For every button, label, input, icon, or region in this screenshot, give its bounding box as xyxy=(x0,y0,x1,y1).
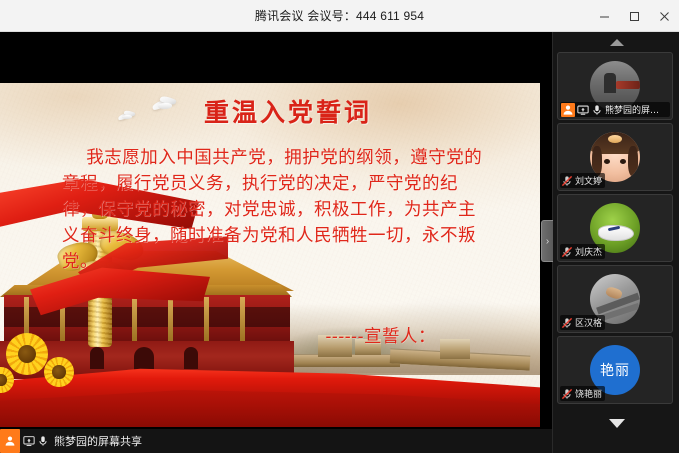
screen-share-icon xyxy=(23,435,35,447)
participant-name: 区汉格 xyxy=(575,316,602,329)
window-controls xyxy=(589,0,679,32)
participant-label: 刘庆杰 xyxy=(560,244,605,259)
chevron-right-icon: › xyxy=(546,236,549,247)
shared-screen-stage[interactable]: 重温入党誓词 我志愿加入中国共产党，拥护党的纲领，遵守党的章程，履行党员义务，执… xyxy=(0,32,552,453)
close-button[interactable] xyxy=(649,0,679,32)
slide-title: 重温入党誓词 xyxy=(0,93,540,129)
presentation-slide: 重温入党誓词 我志愿加入中国共产党，拥护党的纲领，遵守党的章程，履行党员义务，执… xyxy=(0,83,540,427)
screen-share-status-bar: 熊梦园的屏幕共享 xyxy=(0,429,552,453)
participant-sidebar: 熊梦园的屏幕... 刘文婷 xyxy=(552,32,679,453)
slide-body-text: 我志愿加入中国共产党，拥护党的纲领，遵守党的章程，履行党员义务，执行党的决定，严… xyxy=(24,145,490,275)
chevron-down-icon xyxy=(609,419,625,428)
screen-share-icon xyxy=(577,104,589,116)
meeting-window: 腾讯会议 会议号：444 611 954 xyxy=(0,0,679,453)
mic-icon xyxy=(591,104,603,116)
participant-tile[interactable]: 刘文婷 xyxy=(557,123,673,191)
minimize-button[interactable] xyxy=(589,0,619,32)
sunflower-icon xyxy=(0,367,14,393)
participant-name: 刘庆杰 xyxy=(575,245,602,258)
participant-name: 刘文婷 xyxy=(575,174,602,187)
mic-icon xyxy=(37,435,49,447)
sidebar-collapse-handle[interactable]: › xyxy=(541,220,553,262)
participant-name: 饶艳丽 xyxy=(575,387,602,400)
participant-label: 熊梦园的屏幕... xyxy=(560,102,670,117)
participant-tile[interactable]: 艳丽 饶艳丽 xyxy=(557,336,673,404)
host-badge-icon xyxy=(0,429,20,453)
participant-tiles: 熊梦园的屏幕... 刘文婷 xyxy=(557,52,676,407)
share-status-icons xyxy=(20,435,52,447)
maximize-button[interactable] xyxy=(619,0,649,32)
participant-label: 刘文婷 xyxy=(560,173,605,188)
scroll-down-button[interactable] xyxy=(553,415,679,431)
share-status-text: 熊梦园的屏幕共享 xyxy=(54,433,142,449)
mic-muted-icon xyxy=(561,175,573,187)
participant-tile[interactable]: 熊梦园的屏幕... xyxy=(557,52,673,120)
host-badge-icon xyxy=(561,103,575,117)
participant-label: 饶艳丽 xyxy=(560,386,605,401)
participant-name: 熊梦园的屏幕... xyxy=(605,103,667,116)
mic-muted-icon xyxy=(561,246,573,258)
participant-tile[interactable]: 刘庆杰 xyxy=(557,194,673,262)
sunflower-icon xyxy=(44,357,74,387)
mic-muted-icon xyxy=(561,388,573,400)
slide-signature-line: ------宣誓人： xyxy=(24,323,490,348)
avatar-initials: 艳丽 xyxy=(600,360,630,380)
mic-muted-icon xyxy=(561,317,573,329)
window-title: 腾讯会议 会议号：444 611 954 xyxy=(255,7,424,24)
participant-tile[interactable]: 区汉格 xyxy=(557,265,673,333)
scroll-up-button[interactable] xyxy=(553,34,679,50)
chevron-up-icon xyxy=(610,39,624,46)
title-bar: 腾讯会议 会议号：444 611 954 xyxy=(0,0,679,32)
participant-label: 区汉格 xyxy=(560,315,605,330)
